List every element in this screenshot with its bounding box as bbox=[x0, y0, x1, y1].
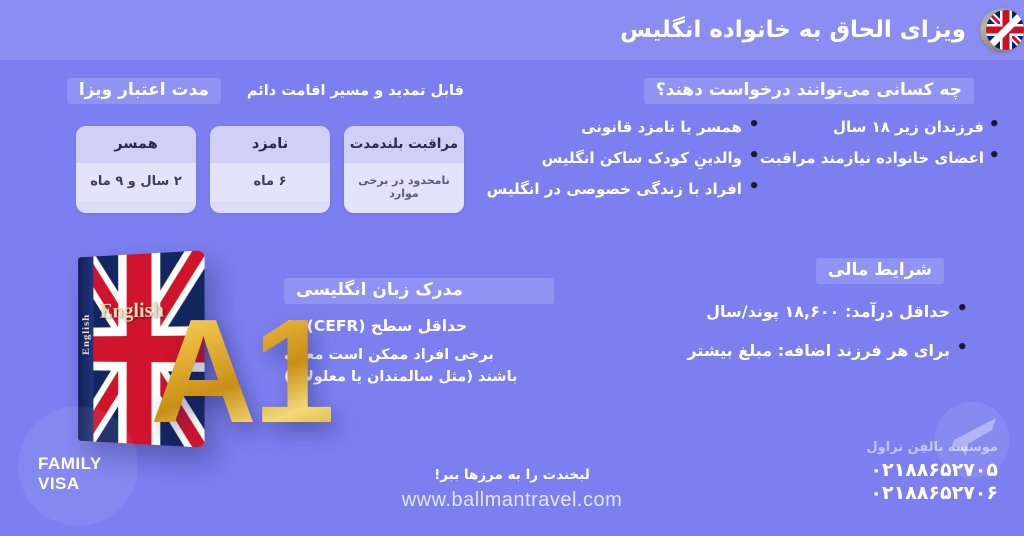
page-title: ویزای الحاق به خانواده انگلیس bbox=[620, 17, 966, 43]
eligibility-heading: چه کسانی می‌توانند درخواست دهند؟ bbox=[644, 78, 974, 104]
list-item: برای هر فرزند اضافه: مبلغ بیشتر bbox=[500, 341, 968, 360]
list-item: حداقل درآمد: ۱۸,۶۰۰ پوند/سال bbox=[500, 302, 968, 321]
list-item: همسر یا نامزد قانونی bbox=[487, 118, 760, 136]
duration-card-title: همسر bbox=[76, 126, 196, 163]
duration-card: مراقبت بلندمدت نامحدود در برخی موارد bbox=[344, 126, 464, 213]
brand-contact-block: موسسه بالفِن تراول ۰۲۱۸۸۶۵۲۷۰۵ ۰۲۱۸۸۶۵۲۷… bbox=[866, 440, 998, 507]
phone-number-2[interactable]: ۰۲۱۸۸۶۵۲۷۰۶ bbox=[866, 482, 998, 506]
visa-duration-heading: مدت اعتبار ویزا bbox=[67, 78, 221, 104]
eligibility-section: چه کسانی می‌توانند درخواست دهند؟ فرزندان… bbox=[500, 78, 1000, 211]
phone-number-1[interactable]: ۰۲۱۸۸۶۵۲۷۰۵ bbox=[866, 459, 998, 483]
header-band: ویزای الحاق به خانواده انگلیس bbox=[0, 0, 1024, 60]
visa-duration-subtitle: قابل تمدید و مسیر اقامت دائم bbox=[247, 83, 464, 99]
book-spine-label: English bbox=[81, 296, 92, 374]
visa-duration-cards: مراقبت بلندمدت نامحدود در برخی موارد نام… bbox=[44, 126, 464, 213]
eligibility-column-left: فرزندان زیر ۱۸ سال اعضای خانواده نیازمند… bbox=[760, 118, 1000, 211]
list-item: اعضای خانواده نیازمند مراقبت bbox=[760, 149, 1000, 167]
list-item: افراد با زندگی خصوصی در انگلیس bbox=[487, 180, 760, 198]
financial-heading: شرایط مالی bbox=[816, 258, 944, 284]
visa-duration-section: قابل تمدید و مسیر اقامت دائم مدت اعتبار … bbox=[44, 78, 464, 213]
duration-card-value: ۶ ماه bbox=[210, 163, 330, 202]
uk-flag-badge-icon bbox=[980, 8, 1024, 52]
list-item: فرزندان زیر ۱۸ سال bbox=[760, 118, 1000, 136]
duration-card-value: ۲ سال و ۹ ماه bbox=[76, 163, 196, 202]
infographic-poster: ویزای الحاق به خانواده انگلیس قابل تمدید… bbox=[0, 0, 1024, 536]
duration-card: نامزد ۶ ماه bbox=[210, 126, 330, 213]
duration-card-value: نامحدود در برخی موارد bbox=[344, 163, 464, 213]
list-item: والدینِ کودک ساکن انگلیس bbox=[487, 149, 760, 167]
duration-card-title: نامزد bbox=[210, 126, 330, 163]
duration-card: همسر ۲ سال و ۹ ماه bbox=[76, 126, 196, 213]
brand-name: موسسه بالفِن تراول bbox=[866, 440, 998, 455]
uk-flag-icon bbox=[986, 10, 1024, 50]
financial-section: شرایط مالی حداقل درآمد: ۱۸,۶۰۰ پوند/سال … bbox=[500, 258, 1000, 380]
eligibility-column-right: همسر یا نامزد قانونی والدینِ کودک ساکن ا… bbox=[487, 118, 760, 211]
duration-card-title: مراقبت بلندمدت bbox=[344, 126, 464, 163]
a1-level-badge: A1 bbox=[150, 298, 331, 446]
